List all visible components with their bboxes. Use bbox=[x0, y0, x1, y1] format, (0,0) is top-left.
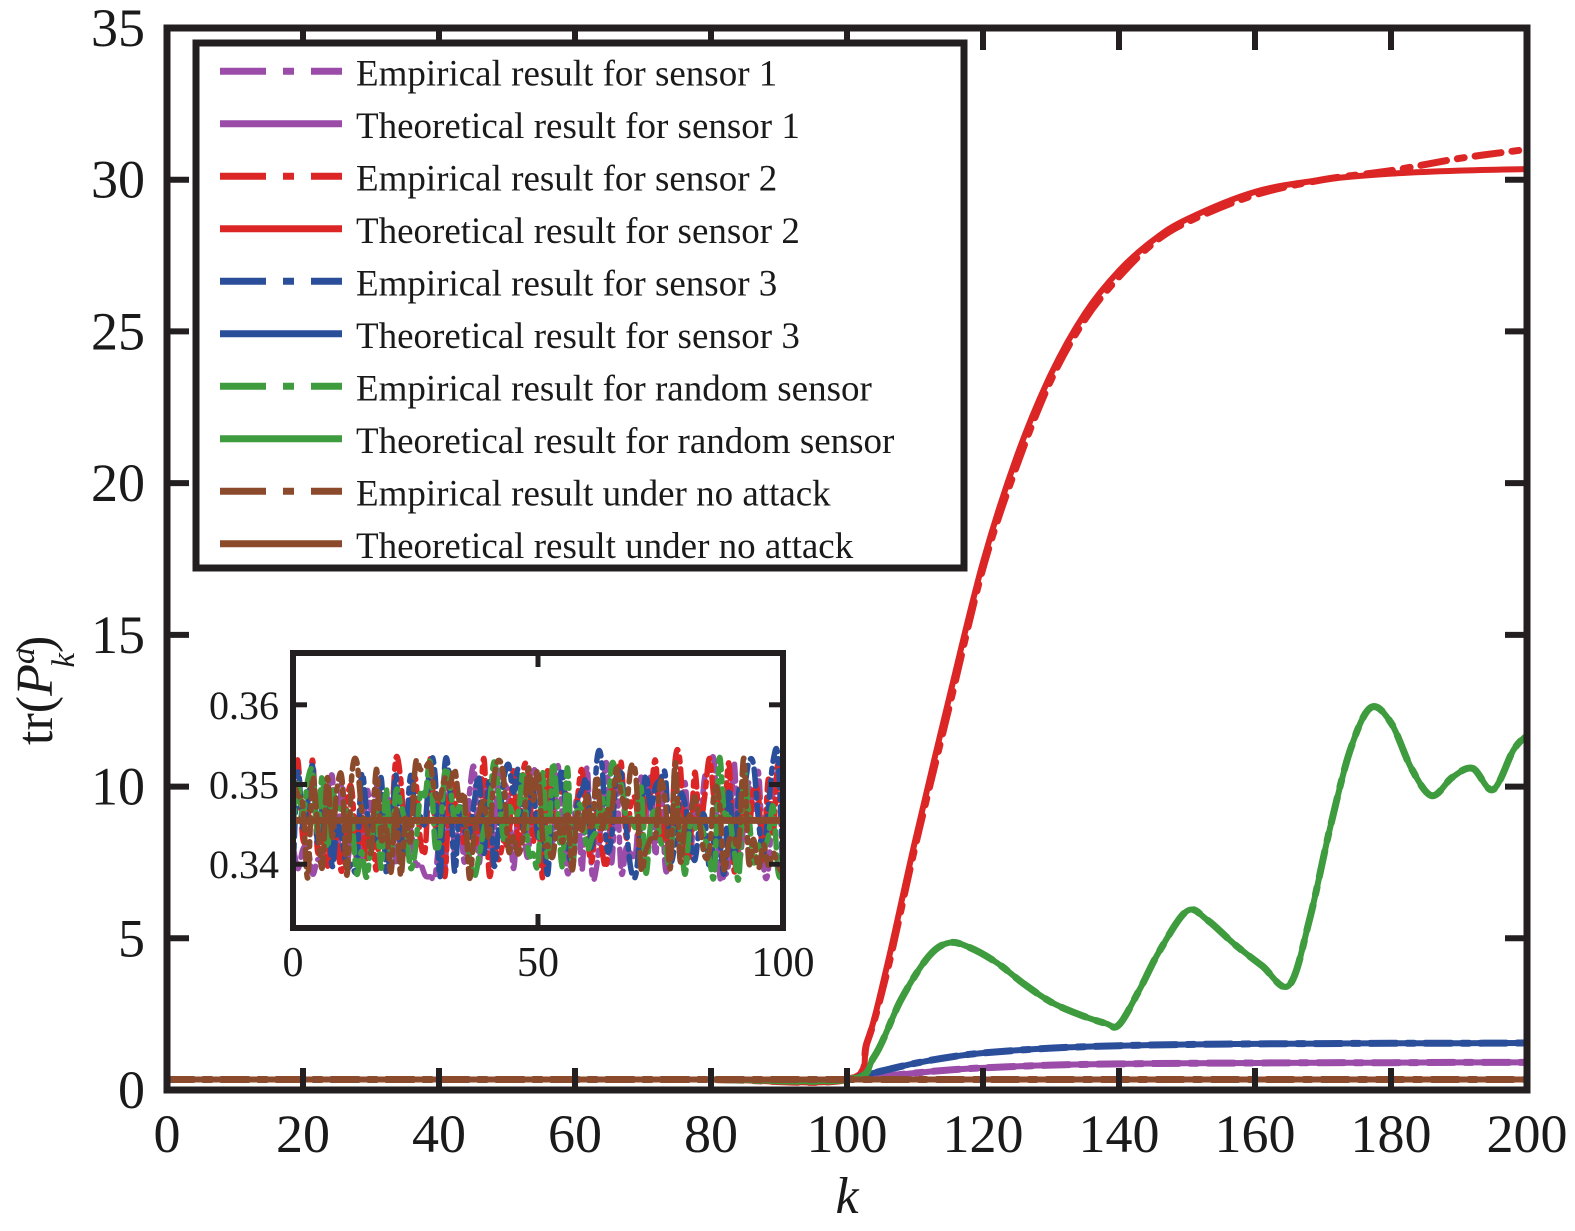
y-tick-label: 20 bbox=[91, 453, 145, 513]
chart-legend[interactable]: Empirical result for sensor 1Theoretical… bbox=[196, 43, 964, 568]
y-tick-label: 5 bbox=[118, 908, 145, 968]
x-tick-label: 0 bbox=[154, 1104, 181, 1164]
inset-x-tick-label: 0 bbox=[283, 940, 304, 986]
x-tick-label: 40 bbox=[412, 1104, 466, 1164]
inset-y-tick-label: 0.35 bbox=[209, 763, 279, 808]
y-tick-label: 30 bbox=[91, 150, 145, 210]
y-title-prefix: tr( bbox=[7, 696, 64, 745]
inset-y-tick-label: 0.34 bbox=[209, 842, 279, 887]
y-tick-label: 35 bbox=[91, 0, 145, 58]
x-tick-label: 160 bbox=[1215, 1104, 1296, 1164]
legend-label: Empirical result under no attack bbox=[356, 473, 831, 514]
y-title-base: P bbox=[7, 664, 64, 697]
chart-canvas: 05101520253035 0204060801001201401601802… bbox=[0, 0, 1575, 1231]
inset-y-tick-label: 0.36 bbox=[209, 683, 279, 728]
figure-root: 05101520253035 0204060801001201401601802… bbox=[0, 0, 1575, 1231]
x-tick-label: 200 bbox=[1487, 1104, 1568, 1164]
legend-label: Theoretical result for sensor 2 bbox=[356, 211, 800, 252]
legend-label: Theoretical result for sensor 1 bbox=[356, 106, 800, 147]
x-tick-label: 100 bbox=[807, 1104, 888, 1164]
legend-label: Empirical result for sensor 2 bbox=[356, 158, 777, 199]
inset-x-tick-label: 50 bbox=[517, 940, 559, 986]
inset-x-tick-label: 100 bbox=[752, 940, 815, 986]
x-tick-label: 120 bbox=[943, 1104, 1024, 1164]
legend-label: Theoretical result for sensor 3 bbox=[356, 316, 800, 357]
y-tick-label: 0 bbox=[118, 1060, 145, 1120]
y-title-suffix: ) bbox=[7, 636, 64, 653]
y-title-sub: k bbox=[46, 652, 82, 668]
legend-label: Theoretical result under no attack bbox=[356, 526, 854, 567]
x-tick-label: 140 bbox=[1079, 1104, 1160, 1164]
x-tick-label: 60 bbox=[548, 1104, 602, 1164]
legend-label: Empirical result for sensor 3 bbox=[356, 263, 777, 304]
y-tick-label: 15 bbox=[91, 605, 145, 665]
y-tick-label: 25 bbox=[91, 301, 145, 361]
legend-label: Empirical result for sensor 1 bbox=[356, 53, 777, 94]
legend-label: Theoretical result for random sensor bbox=[356, 421, 894, 462]
x-tick-label: 20 bbox=[276, 1104, 330, 1164]
y-tick-label: 10 bbox=[91, 757, 145, 817]
legend-label: Empirical result for random sensor bbox=[356, 368, 872, 409]
x-tick-label: 180 bbox=[1351, 1104, 1432, 1164]
x-tick-label: 80 bbox=[684, 1104, 738, 1164]
x-axis-title: k bbox=[835, 1168, 859, 1225]
